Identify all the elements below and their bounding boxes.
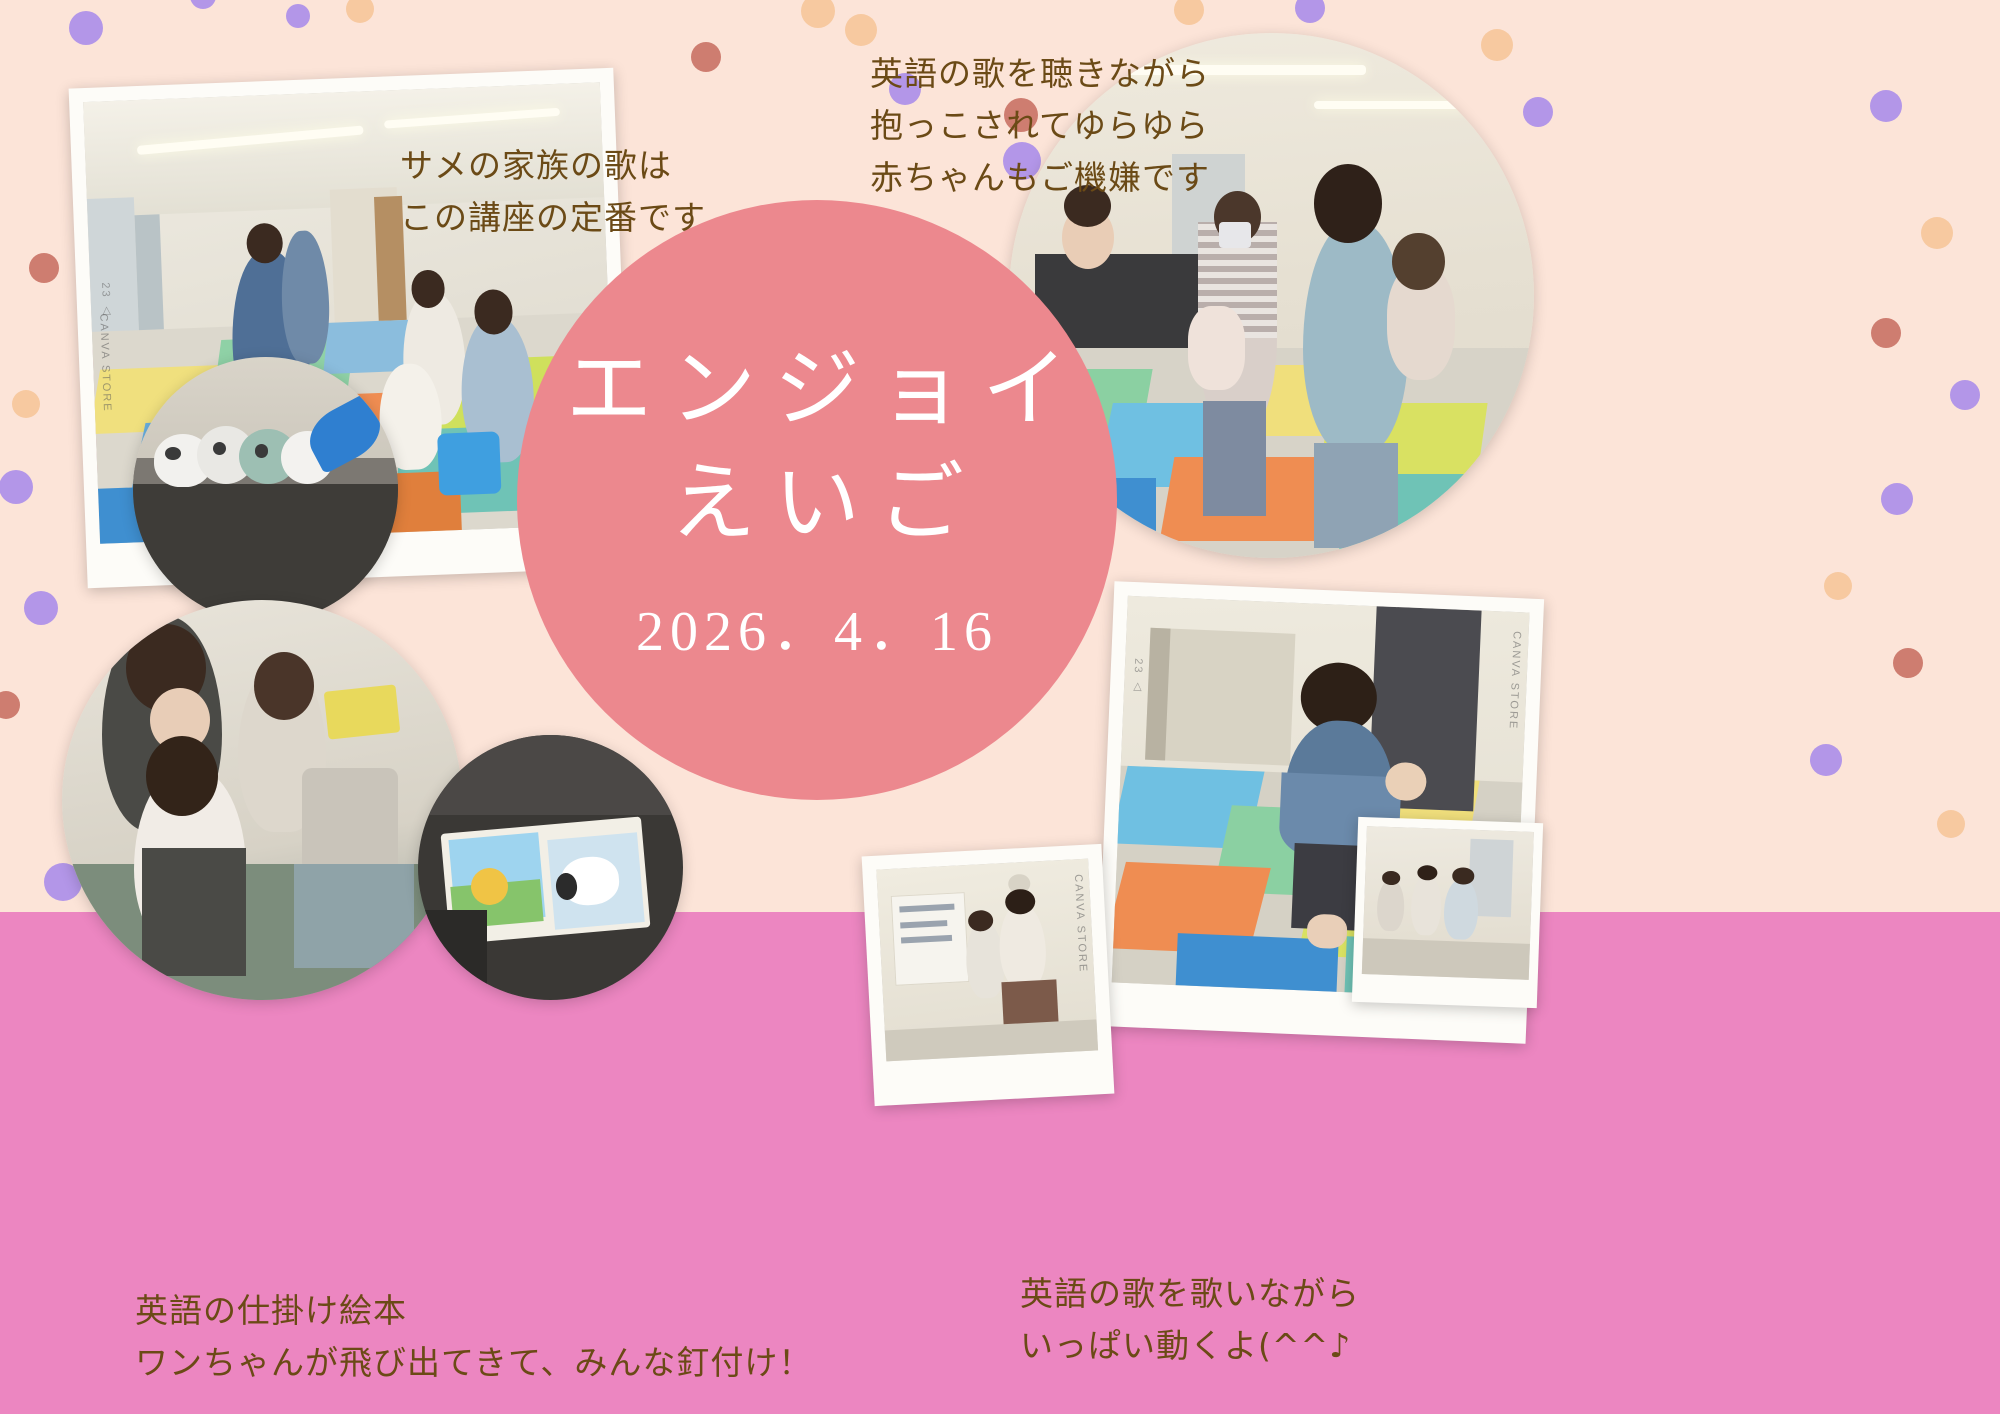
confetti-dot (1881, 483, 1913, 515)
confetti-dot (1893, 648, 1923, 678)
title-line-1: エンジョイ (548, 333, 1086, 447)
confetti-dot (12, 390, 40, 418)
title-line-2: えいご (652, 447, 982, 561)
confetti-dot (24, 591, 58, 625)
caption-hug-song: 英語の歌を聴きながら 抱っこされてゆらゆら 赤ちゃんもご機嫌です (870, 48, 1210, 204)
photo-parent-and-child-reading (62, 600, 462, 1000)
photo-picture-book-closeup (418, 735, 683, 1000)
photo-teacher-raising-hands: CANVA STORE (862, 844, 1115, 1106)
confetti-dot (1810, 744, 1842, 776)
confetti-dot (29, 253, 59, 283)
confetti-dot (286, 4, 310, 28)
caption-singing-moving: 英語の歌を歌いながら いっぱい動くよ(^^♪ (1020, 1268, 1360, 1372)
confetti-dot (1950, 380, 1980, 410)
confetti-dot (1937, 810, 1965, 838)
caption-picture-book: 英語の仕掛け絵本 ワンちゃんが飛び出てきて、みんな釘付け！ (135, 1285, 812, 1389)
confetti-dot (1824, 572, 1852, 600)
photo-corner-mark: 23 △ (99, 282, 113, 319)
photo-group-activity-small (1352, 817, 1543, 1008)
confetti-dot (1921, 217, 1953, 249)
poster-canvas: CANVA STORE 23 △ (0, 0, 2000, 1414)
confetti-dot (845, 14, 877, 46)
caption-shark-song: サメの家族の歌は この講座の定番です (400, 140, 706, 244)
confetti-dot (691, 42, 721, 72)
confetti-dot (1871, 318, 1901, 348)
confetti-dot (1870, 90, 1902, 122)
photo-corner-mark: 23 △ (1131, 658, 1146, 695)
event-date: 2026．4．16 (636, 586, 998, 667)
photo-shark-plush-toys (133, 357, 398, 622)
confetti-dot (0, 470, 33, 504)
title-badge: エンジョイ えいご 2026．4．16 (517, 200, 1117, 800)
confetti-dot (69, 11, 103, 45)
